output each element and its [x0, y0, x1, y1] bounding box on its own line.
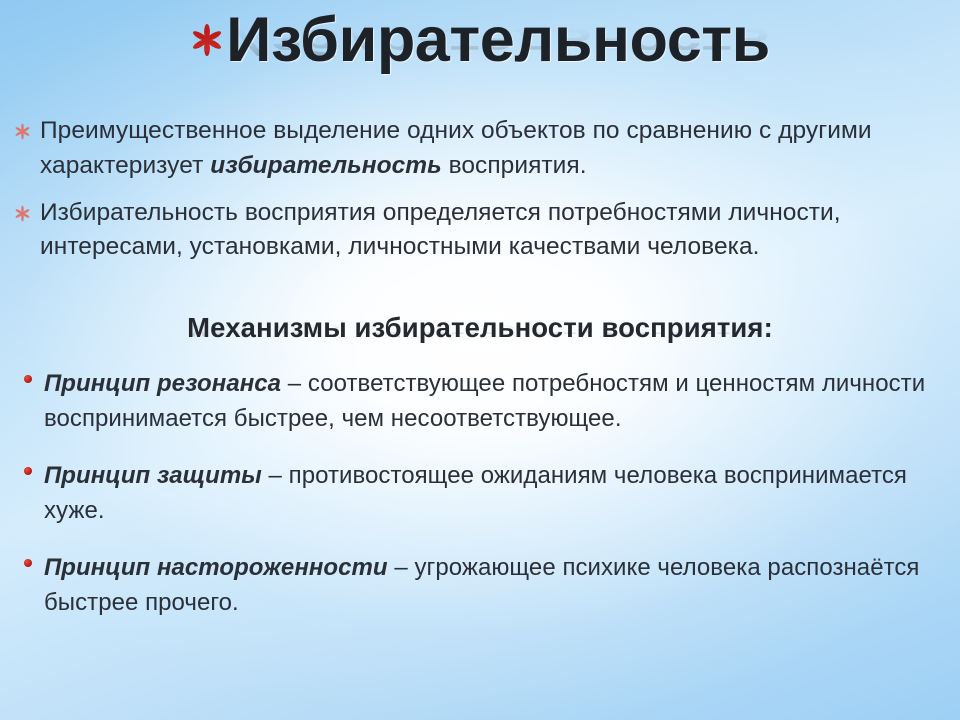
- round-dot-icon: [24, 559, 32, 567]
- list-item: Преимущественное выделение одних объекто…: [14, 114, 946, 184]
- principle-dash: –: [388, 554, 415, 581]
- page-title-text: Избирательность: [226, 5, 770, 75]
- section-heading: Механизмы избирательности восприятия:: [187, 312, 773, 344]
- list-item: Принцип защиты – противостоящее ожидания…: [22, 458, 946, 528]
- principle-dash: –: [262, 462, 289, 489]
- asterisk-star-icon: [14, 116, 31, 151]
- list-item-emphasis: избирательность: [210, 152, 442, 179]
- list-item-text-prefix: Избирательность восприятия определяется …: [40, 199, 841, 261]
- list-item: Принцип настороженности – угрожающее пси…: [22, 550, 946, 620]
- asterisk-star-icon: [190, 4, 224, 68]
- asterisk-star-icon: [14, 198, 31, 233]
- section-heading-block: Механизмы избирательности восприятия: Ме…: [0, 312, 960, 371]
- round-dot-icon: [24, 375, 32, 383]
- slide-title-block: Избирательность: [0, 8, 960, 127]
- principle-dash: –: [281, 370, 308, 397]
- principle-term: Принцип настороженности: [44, 554, 388, 581]
- principle-list: Принцип резонанса – соответствующее потр…: [22, 366, 946, 620]
- list-item-text-suffix: восприятия.: [442, 152, 587, 179]
- list-item: Принцип резонанса – соответствующее потр…: [22, 366, 946, 436]
- principle-term: Принцип защиты: [44, 462, 262, 489]
- page-title: Избирательность: [190, 8, 770, 72]
- body-bullet-list: Преимущественное выделение одних объекто…: [14, 114, 946, 277]
- list-item: Избирательность восприятия определяется …: [14, 196, 946, 266]
- slide-canvas: Избирательность: [0, 0, 960, 720]
- round-dot-icon: [24, 467, 32, 475]
- principle-term: Принцип резонанса: [44, 370, 281, 397]
